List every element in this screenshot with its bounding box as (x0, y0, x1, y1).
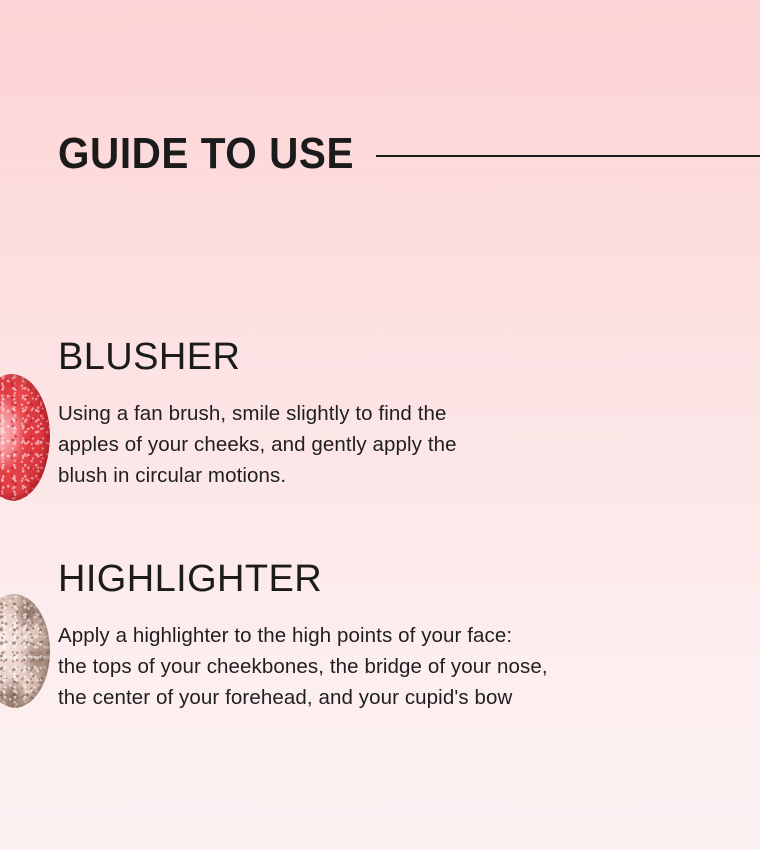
section-body-blusher: Using a fan brush, smile slightly to fin… (58, 398, 758, 491)
highlighter-swatch-body (0, 594, 50, 708)
blusher-powder-swatch (0, 374, 50, 501)
blusher-swatch-texture (0, 374, 50, 501)
section-title-blusher: BLUSHER (58, 336, 758, 378)
highlighter-swatch-base (0, 594, 50, 708)
highlighter-swatch-texture (0, 594, 50, 708)
highlighter-powder-swatch (0, 594, 50, 708)
highlighter-swatch-shading (0, 594, 50, 708)
section-highlighter: HIGHLIGHTER Apply a highlighter to the h… (58, 558, 758, 713)
page-header: GUIDE TO USE (0, 126, 760, 182)
header-divider-line (376, 155, 760, 157)
section-body-highlighter: Apply a highlighter to the high points o… (58, 620, 758, 713)
blusher-swatch-body (0, 374, 50, 501)
guide-to-use-page: GUIDE TO USE BLUSHER Using a fan brush, … (0, 0, 760, 850)
section-blusher: BLUSHER Using a fan brush, smile slightl… (58, 336, 758, 491)
page-title: GUIDE TO USE (58, 131, 354, 177)
blusher-swatch-base (0, 374, 50, 501)
section-title-highlighter: HIGHLIGHTER (58, 558, 758, 600)
blusher-swatch-shading (0, 374, 50, 501)
